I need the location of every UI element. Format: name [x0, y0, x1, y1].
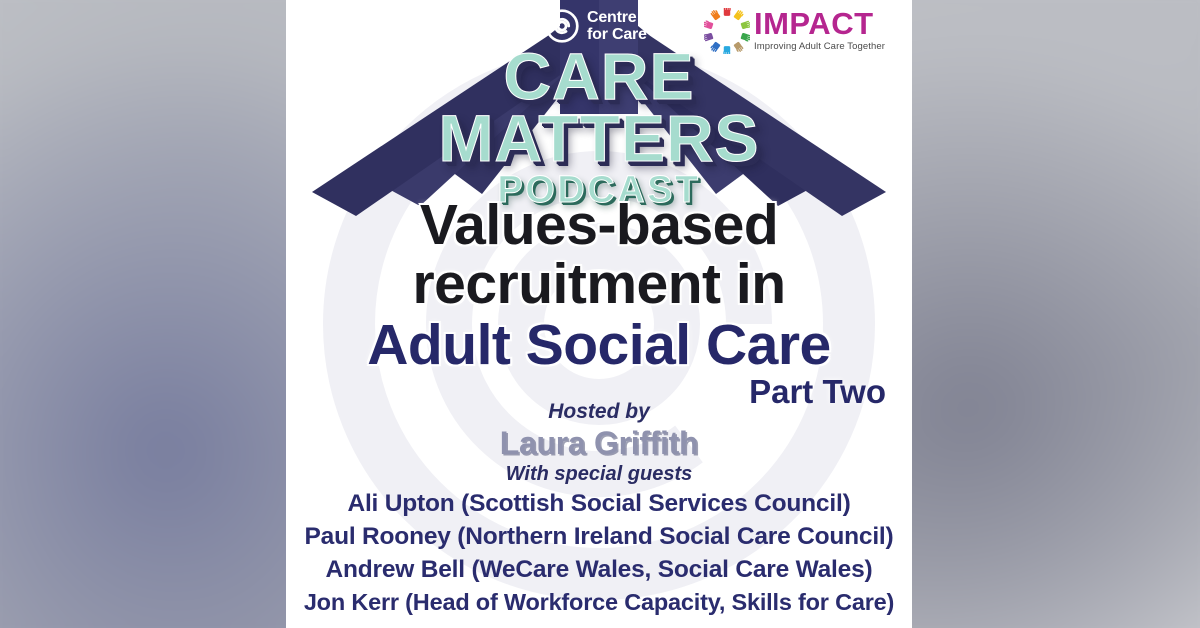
impact-logo: IMPACT Improving Adult Care Together [702, 5, 910, 56]
headline-line-2: recruitment in [286, 255, 912, 314]
podcast-cover-stage: Centre for Care [0, 0, 1200, 628]
episode-headline-block: Values-based recruitment in Adult Social… [286, 196, 912, 410]
cfc-line-2: for Care [587, 26, 647, 43]
guests-label: With special guests [286, 462, 912, 486]
show-subtitle: PODCAST [286, 169, 912, 211]
impact-name: IMPACT [754, 9, 885, 39]
guest-item: Ali Upton (Scottish Social Services Coun… [286, 488, 912, 519]
impact-wordmark: IMPACT Improving Adult Care Together [754, 9, 885, 52]
host-name: Laura Griffith [286, 425, 912, 461]
show-title-block: CARE MATTERS PODCAST [286, 46, 912, 211]
logo-row: Centre for Care [286, 0, 912, 62]
at-circle-icon [544, 8, 580, 44]
credits-block: Hosted by Laura Griffith With special gu… [286, 400, 912, 618]
centre-for-care-wordmark: Centre for Care [587, 9, 647, 43]
centre-for-care-watermark-icon [286, 0, 912, 628]
circle-of-hands-icon [704, 8, 750, 54]
guest-item: Jon Kerr (Head of Workforce Capacity, Sk… [286, 587, 912, 618]
impact-tagline: Improving Adult Care Together [754, 41, 885, 52]
cfc-line-1: Centre [587, 9, 647, 26]
podcast-cover-card: Centre for Care [286, 0, 912, 628]
episode-part-label: Part Two [286, 374, 912, 410]
centre-for-care-logo: Centre for Care [544, 8, 647, 44]
show-title-line-2: MATTERS [286, 108, 912, 168]
hosted-by-label: Hosted by [286, 400, 912, 424]
guest-item: Andrew Bell (WeCare Wales, Social Care W… [286, 554, 912, 585]
guest-item: Paul Rooney (Northern Ireland Social Car… [286, 521, 912, 552]
headline-line-3: Adult Social Care [286, 314, 912, 376]
headline-line-1: Values-based [286, 196, 912, 255]
